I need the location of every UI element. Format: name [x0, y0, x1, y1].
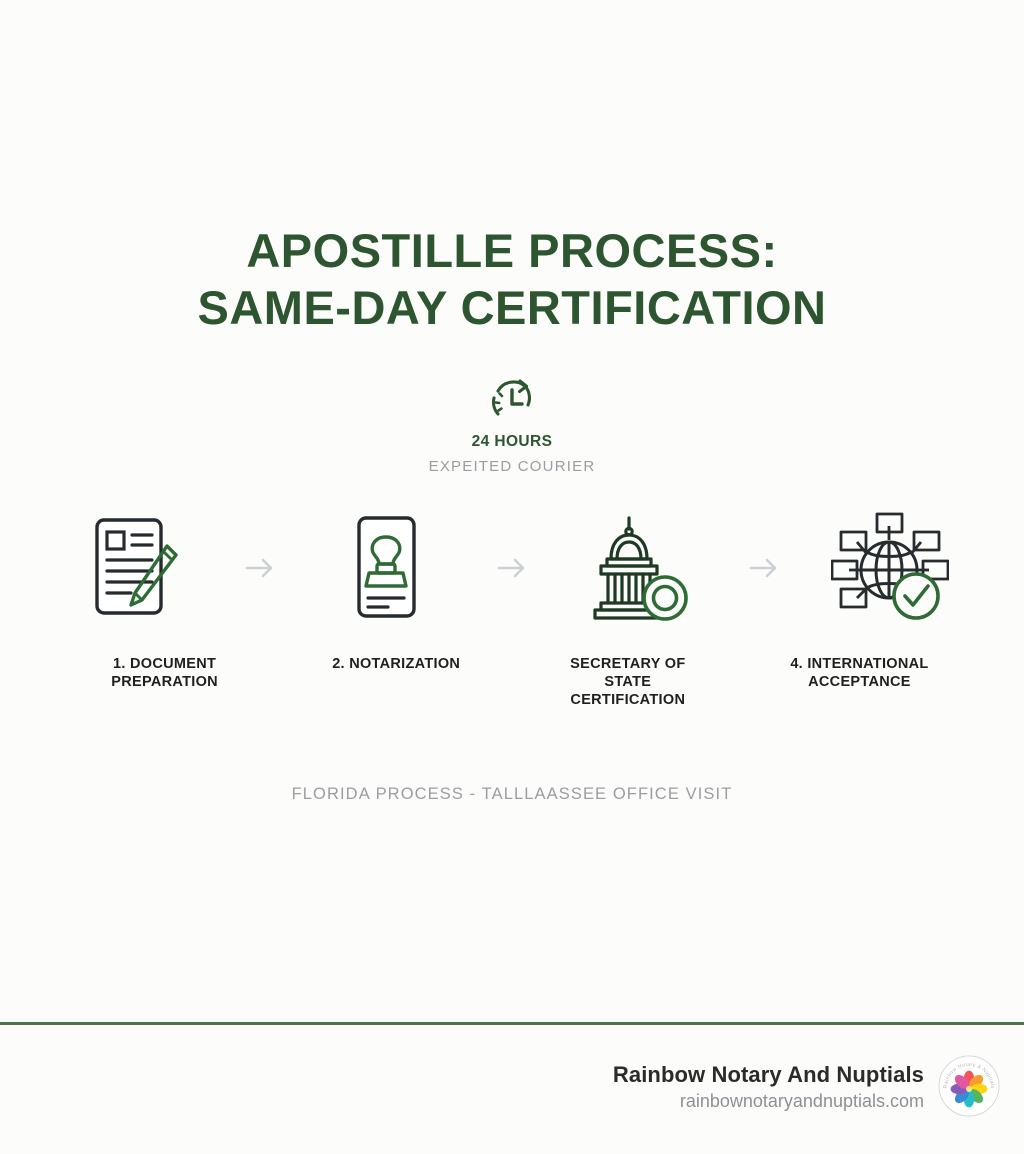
- step-4-icon-cell: [826, 505, 954, 630]
- process-steps-labels: 1. DOCUMENT PREPARATION 2. NOTARIZATION …: [70, 655, 954, 709]
- step-1-label-line-2: PREPARATION: [70, 673, 259, 691]
- step-4-label-line-2: ACCEPTANCE: [765, 673, 954, 691]
- arrow-1-cell: [238, 548, 282, 588]
- step-3-label-line-1: SECRETARY OF: [533, 655, 722, 673]
- footer-text-block: Rainbow Notary And Nuptials rainbownotar…: [613, 1055, 924, 1112]
- arrow-2-cell: [490, 548, 534, 588]
- step-3-label-line-2: STATE: [533, 673, 722, 691]
- step-4-label-line-1: 4. INTERNATIONAL: [765, 655, 954, 673]
- step-2-icon-cell: [322, 505, 450, 630]
- arrow-right-icon: [243, 556, 277, 580]
- step-3-label-line-3: CERTIFICATION: [533, 691, 722, 709]
- document-pencil-icon: [79, 510, 189, 625]
- page-title: APOSTILLE PROCESS: SAME-DAY CERTIFICATIO…: [0, 222, 1024, 336]
- step-1-label-line-1: 1. DOCUMENT: [70, 655, 259, 673]
- footer-divider: [0, 1022, 1024, 1025]
- footer: Rainbow Notary And Nuptials rainbownotar…: [0, 1055, 1024, 1145]
- process-steps-icons: [70, 505, 954, 630]
- badge-headline: 24 HOURS: [0, 433, 1024, 451]
- fast-clock-icon: [481, 374, 543, 426]
- step-3-icon-cell: [574, 505, 702, 630]
- arrow-right-icon: [747, 556, 781, 580]
- footer-brand-name: Rainbow Notary And Nuptials: [613, 1062, 924, 1088]
- arrow-right-icon: [495, 556, 529, 580]
- step-1-label: 1. DOCUMENT PREPARATION: [70, 655, 259, 691]
- step-4-label: 4. INTERNATIONAL ACCEPTANCE: [765, 655, 954, 691]
- capitol-seal-icon: [581, 510, 696, 625]
- arrow-3-cell: [742, 548, 786, 588]
- title-line-1: APOSTILLE PROCESS:: [0, 222, 1024, 279]
- title-line-2: SAME-DAY CERTIFICATION: [0, 279, 1024, 336]
- stamp-document-icon: [336, 510, 436, 625]
- footer-website-url[interactable]: rainbownotaryandnuptials.com: [613, 1091, 924, 1112]
- globe-network-check-icon: [831, 510, 949, 625]
- rainbow-rosette-logo: Rainbow Notary & Nuptials: [938, 1055, 1000, 1117]
- step-2-label-line-1: 2. NOTARIZATION: [302, 655, 491, 673]
- badge-subline: EXPEITED COURIER: [0, 458, 1024, 475]
- turnaround-badge: 24 HOURS EXPEITED COURIER: [0, 374, 1024, 475]
- infographic-canvas: APOSTILLE PROCESS: SAME-DAY CERTIFICATIO…: [0, 0, 1024, 1154]
- step-1-icon-cell: [70, 505, 198, 630]
- process-caption: FLORIDA PROCESS - TALLLAASSEE OFFICE VIS…: [0, 785, 1024, 804]
- step-2-label: 2. NOTARIZATION: [302, 655, 491, 673]
- step-3-label: SECRETARY OF STATE CERTIFICATION: [533, 655, 722, 709]
